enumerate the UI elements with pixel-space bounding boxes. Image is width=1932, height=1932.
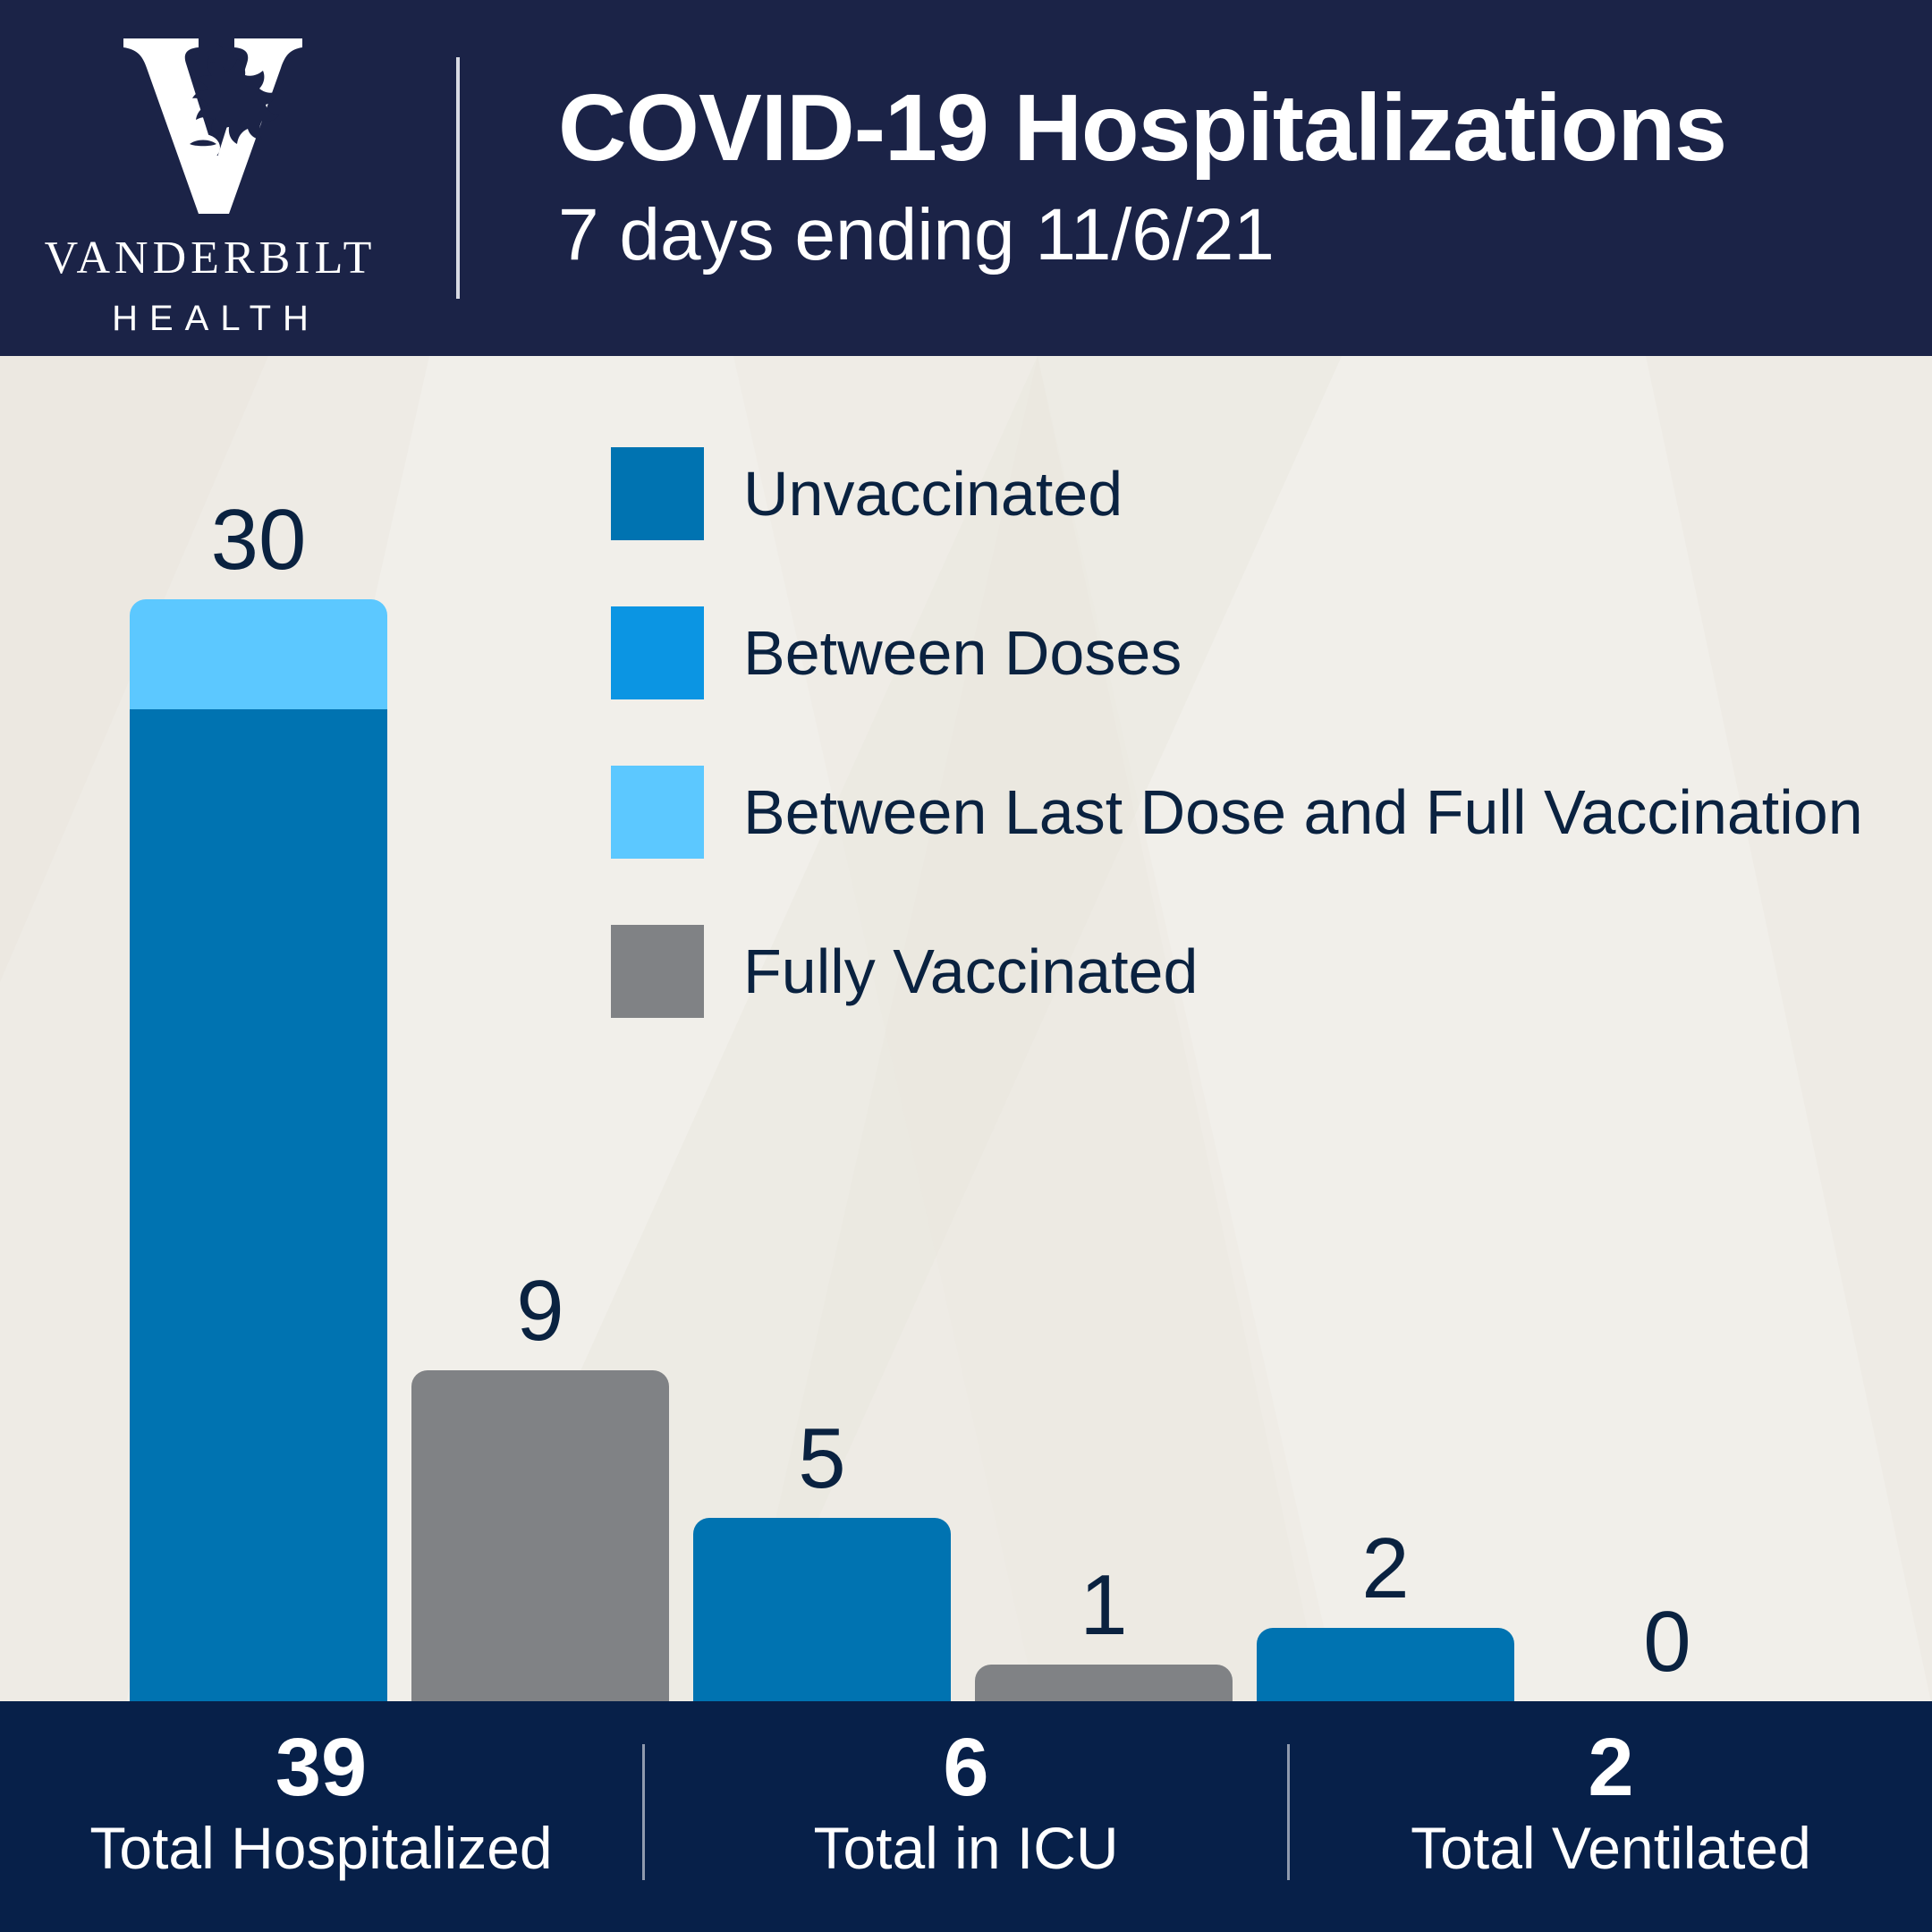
footer-stat: 2Total Ventilated	[1290, 1701, 1932, 1880]
totals-footer-bar: 39Total Hospitalized6Total in ICU2Total …	[0, 1701, 1932, 1932]
logo-wordmark: VANDERBILT	[45, 232, 377, 284]
legend-item: Unvaccinated	[611, 447, 1863, 540]
header-text-block: COVID-19 Hospitalizations 7 days ending …	[460, 77, 1932, 278]
chart-legend: UnvaccinatedBetween DosesBetween Last Do…	[611, 447, 1863, 1084]
footer-stat-value: 39	[275, 1726, 367, 1810]
legend-swatch-icon	[611, 606, 704, 699]
bar-value-label: 2	[1257, 1526, 1514, 1612]
bar-segment	[130, 599, 387, 709]
legend-item-label: Between Doses	[743, 622, 1182, 684]
logo-subwordmark: HEALTH	[100, 299, 320, 339]
bar-value-label: 0	[1538, 1599, 1796, 1685]
bar-value-label: 9	[411, 1268, 669, 1354]
bar-segment	[693, 1518, 951, 1701]
vanderbilt-health-logo: VANDERBILT HEALTH	[0, 0, 420, 356]
legend-item-label: Between Last Dose and Full Vaccination	[743, 781, 1863, 843]
bar-value-label: 1	[975, 1563, 1233, 1648]
footer-stat-label: Total Hospitalized	[89, 1816, 552, 1881]
footer-stat: 6Total in ICU	[645, 1701, 1287, 1880]
bar-segment	[130, 709, 387, 1701]
bar-segment	[1257, 1628, 1514, 1701]
legend-item: Between Last Dose and Full Vaccination	[611, 766, 1863, 859]
footer-stat-value: 6	[943, 1726, 988, 1810]
footer-stat-label: Total Ventilated	[1411, 1816, 1811, 1881]
footer-stat: 39Total Hospitalized	[0, 1701, 642, 1880]
bar-group: 30	[130, 356, 387, 1701]
legend-item-label: Unvaccinated	[743, 462, 1123, 525]
bar-segment	[411, 1370, 669, 1701]
legend-item-label: Fully Vaccinated	[743, 940, 1198, 1003]
bar-segment	[975, 1665, 1233, 1701]
bar[interactable]	[130, 599, 387, 1701]
bar[interactable]	[975, 1665, 1233, 1701]
legend-item: Fully Vaccinated	[611, 925, 1863, 1018]
legend-swatch-icon	[611, 766, 704, 859]
page-subtitle: 7 days ending 11/6/21	[558, 192, 1932, 279]
legend-item: Between Doses	[611, 606, 1863, 699]
bar[interactable]	[693, 1518, 951, 1701]
bar-value-label: 30	[130, 497, 387, 583]
infographic-page: 3095120 UnvaccinatedBetween DosesBetween…	[0, 0, 1932, 1932]
footer-stat-value: 2	[1588, 1726, 1633, 1810]
footer-stat-label: Total in ICU	[813, 1816, 1118, 1881]
page-title: COVID-19 Hospitalizations	[558, 77, 1932, 179]
vanderbilt-v-oakleaf-icon	[116, 33, 304, 219]
header-bar: VANDERBILT HEALTH COVID-19 Hospitalizati…	[0, 0, 1932, 356]
bar[interactable]	[1257, 1628, 1514, 1701]
legend-swatch-icon	[611, 447, 704, 540]
legend-swatch-icon	[611, 925, 704, 1018]
bar-value-label: 5	[693, 1416, 951, 1502]
bar[interactable]	[411, 1370, 669, 1701]
